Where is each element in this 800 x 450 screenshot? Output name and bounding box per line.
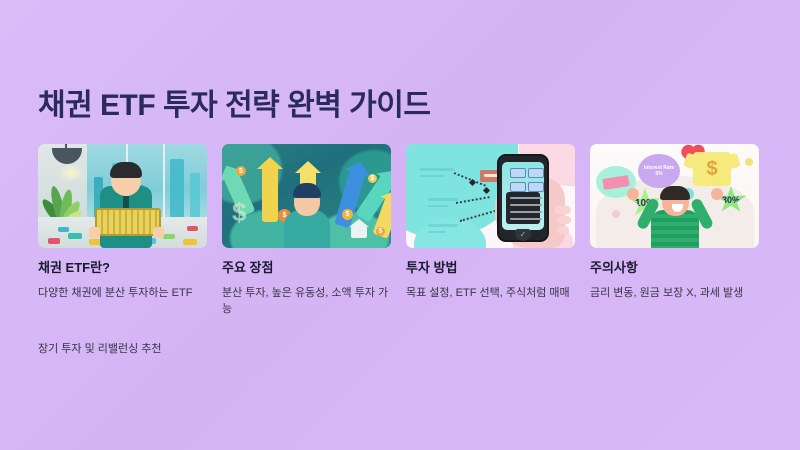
placeholder-text-line [420,168,454,171]
placeholder-text-line [428,205,448,207]
caption-body: 분산 투자, 높은 유동성, 소액 투자 가능 [222,285,391,318]
scattered-paper [187,226,198,231]
card-image-bond-etf [38,144,207,248]
dollar-sign-label: $ [706,158,717,180]
flow-box [510,182,526,192]
phone-scene: ✓ [406,144,575,248]
checklist-row [510,218,542,220]
checklist-row [510,204,542,206]
bond-certificate-icon [95,208,161,236]
page-title: 채권 ETF 투자 전략 완벽 가이드 [38,80,430,124]
scattered-paper [163,234,175,239]
coin-icon: $ [376,227,385,236]
tshirt-dollar-icon: $ [693,152,731,186]
person-hand [711,188,723,200]
flow-box [510,168,526,178]
placeholder-text-line [428,198,458,201]
bubble-label-bar [602,175,629,190]
hand [153,227,164,238]
bubble-label: Interest Rate 5% [640,165,678,177]
infographic-slide: 채권 ETF 투자 전략 완벽 가이드 [0,0,800,450]
growth-scene: $ $ $ $ $ $ [222,144,391,248]
card-image-celebration-rates: Interest Rate 5% 10% 30% $ [590,144,759,248]
card-image-phone-steps: ✓ [406,144,575,248]
decor-dot [745,158,753,166]
caption-title: 주의사항 [590,260,759,276]
window-mullion [163,144,165,221]
up-arrow-icon [262,166,278,222]
card-captions-row: 채권 ETF란? 다양한 채권에 분산 투자하는 ETF 주요 장점 분산 투자… [38,260,764,318]
person-hair [660,186,690,200]
caption-cautions: 주의사항 금리 변동, 원금 보장 X, 과세 발생 [590,260,759,318]
flow-box [528,168,544,178]
scattered-paper [183,239,197,245]
dollar-sign-icon: $ [232,197,246,228]
checklist-row [510,197,542,199]
placeholder-text-line [428,224,458,227]
coin-icon: $ [368,174,377,183]
caption-body: 금리 변동, 원금 보장 X, 과세 발생 [590,285,759,302]
person-mouth [672,204,683,212]
caption-body: 목표 설정, ETF 선택, 주식처럼 매매 [406,285,575,302]
skyline-building [190,173,200,221]
phone-screen [502,162,544,230]
caption-bond-etf: 채권 ETF란? 다양한 채권에 분산 투자하는 ETF [38,260,207,318]
flow-box [528,182,544,192]
speech-bubble-interest-rate: Interest Rate 5% [638,154,680,188]
finger [555,206,571,214]
scattered-paper [58,227,69,232]
placeholder-text-line [420,175,444,177]
caption-title: 투자 방법 [406,260,575,276]
coin-icon: $ [236,166,246,176]
house-icon [351,226,367,238]
card-image-row: $ $ $ $ $ $ [38,144,764,248]
hand [89,227,100,238]
check-shield-icon: ✓ [515,229,531,241]
caption-how-to-invest: 투자 방법 목표 설정, ETF 선택, 주식처럼 매매 [406,260,575,318]
caption-title: 채권 ETF란? [38,260,207,276]
smartphone-icon: ✓ [497,154,549,242]
caption-advantages: 주요 장점 분산 투자, 높은 유동성, 소액 투자 가능 [222,260,391,318]
skyline-building [170,159,184,221]
placeholder-text-line [428,231,446,233]
caption-title: 주요 장점 [222,260,391,276]
checklist-row [510,211,542,213]
person-hair [293,183,321,198]
businessman-hair [110,162,142,178]
office-scene [38,144,207,248]
finger [557,226,569,234]
decor-dot [612,210,620,218]
finger [557,216,571,224]
checklist-panel [506,192,540,224]
person-hand [627,188,639,200]
footnote-text: 장기 투자 및 리밸런싱 추천 [38,341,258,358]
caption-body: 다양한 채권에 분산 투자하는 ETF [38,285,207,302]
badge-label: 30% [722,195,740,205]
card-image-growth-arrows: $ $ $ $ $ $ [222,144,391,248]
scattered-paper [68,233,82,239]
celebration-scene: Interest Rate 5% 10% 30% $ [590,144,759,248]
scattered-paper [48,238,60,244]
